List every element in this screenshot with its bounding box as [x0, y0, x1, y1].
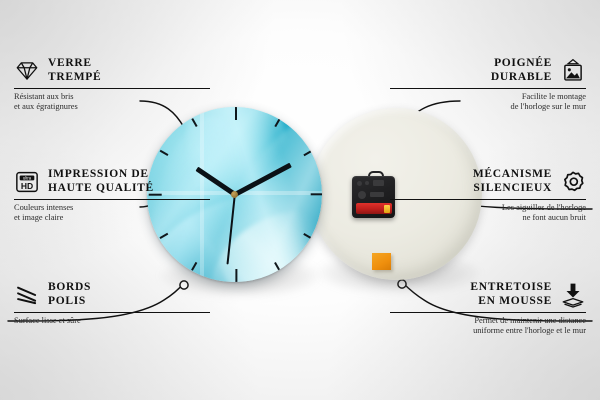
wall-hanger-frame-icon [560, 58, 586, 84]
feature-divider [14, 88, 210, 89]
feature-subtitle-line1: Les aiguilles de l'horloge [390, 203, 586, 213]
feature-subtitle-line2: et aux égratignures [14, 102, 210, 112]
feature-divider [390, 199, 586, 200]
feature-title-line1: IMPRESSION DE [48, 168, 154, 182]
feature-divider [390, 88, 586, 89]
ultra-hd-badge-top-text: ultra [23, 175, 32, 180]
ultra-hd-badge-icon: ultra HD [14, 169, 40, 195]
feature-title-line2: DURABLE [491, 71, 552, 85]
feature-subtitle-line2: uniforme entre l'horloge et le mur [390, 326, 586, 336]
feature-subtitle-line1: Résistant aux bris [14, 92, 210, 102]
feature-mecanisme-silencieux[interactable]: MÉCANISME SILENCIEUX Les aiguilles de l'… [390, 168, 586, 224]
feature-title-line2: TREMPÉ [48, 71, 101, 85]
feature-title-line1: MÉCANISME [473, 168, 552, 182]
feature-subtitle-line2: et image claire [14, 213, 210, 223]
feature-poignee-durable[interactable]: POIGNÉE DURABLE Facilite le montage de l… [390, 57, 586, 113]
foam-spacer [372, 253, 391, 270]
feature-title-line1: ENTRETOISE [470, 281, 552, 295]
feature-subtitle-line2: de l'horloge sur le mur [390, 102, 586, 112]
feature-entretoise-en-mousse[interactable]: ENTRETOISE EN MOUSSE Permet de maintenir… [390, 281, 586, 337]
feature-title-line1: BORDS [48, 281, 91, 295]
ultra-hd-badge-bottom-text: HD [21, 180, 33, 190]
clock-mechanism [352, 176, 395, 218]
feature-divider [390, 312, 586, 313]
diamond-icon [14, 58, 40, 84]
foam-spacer-arrow-icon [560, 282, 586, 308]
feature-divider [14, 312, 210, 313]
battery [356, 203, 392, 214]
feature-impression-haute-qualite[interactable]: ultra HD IMPRESSION DE HAUTE QUALITÉ Cou… [14, 168, 210, 224]
infographic-canvas: VERRE TREMPÉ Résistant aux bris et aux é… [0, 0, 600, 400]
gear-icon [560, 169, 586, 195]
feature-title-line1: VERRE [48, 57, 101, 71]
feature-title-line2: EN MOUSSE [470, 295, 552, 309]
feature-verre-trempe[interactable]: VERRE TREMPÉ Résistant aux bris et aux é… [14, 57, 210, 113]
feature-subtitle-line1: Facilite le montage [390, 92, 586, 102]
feature-title-line2: SILENCIEUX [473, 182, 552, 196]
feature-subtitle-line2: ne font aucun bruit [390, 213, 586, 223]
feature-title-line2: HAUTE QUALITÉ [48, 182, 154, 196]
feature-bords-polis[interactable]: BORDS POLIS Surface lisse et sûre [14, 281, 210, 326]
feature-title-line2: POLIS [48, 295, 91, 309]
hand-hub [231, 191, 238, 198]
polished-edges-icon [14, 282, 40, 308]
feature-subtitle-line1: Couleurs intenses [14, 203, 210, 213]
feature-subtitle-line1: Surface lisse et sûre [14, 316, 210, 326]
feature-title-line1: POIGNÉE [491, 57, 552, 71]
feature-subtitle-line1: Permet de maintenir une distance [390, 316, 586, 326]
feature-divider [14, 199, 210, 200]
mechanism-housing [352, 176, 395, 218]
